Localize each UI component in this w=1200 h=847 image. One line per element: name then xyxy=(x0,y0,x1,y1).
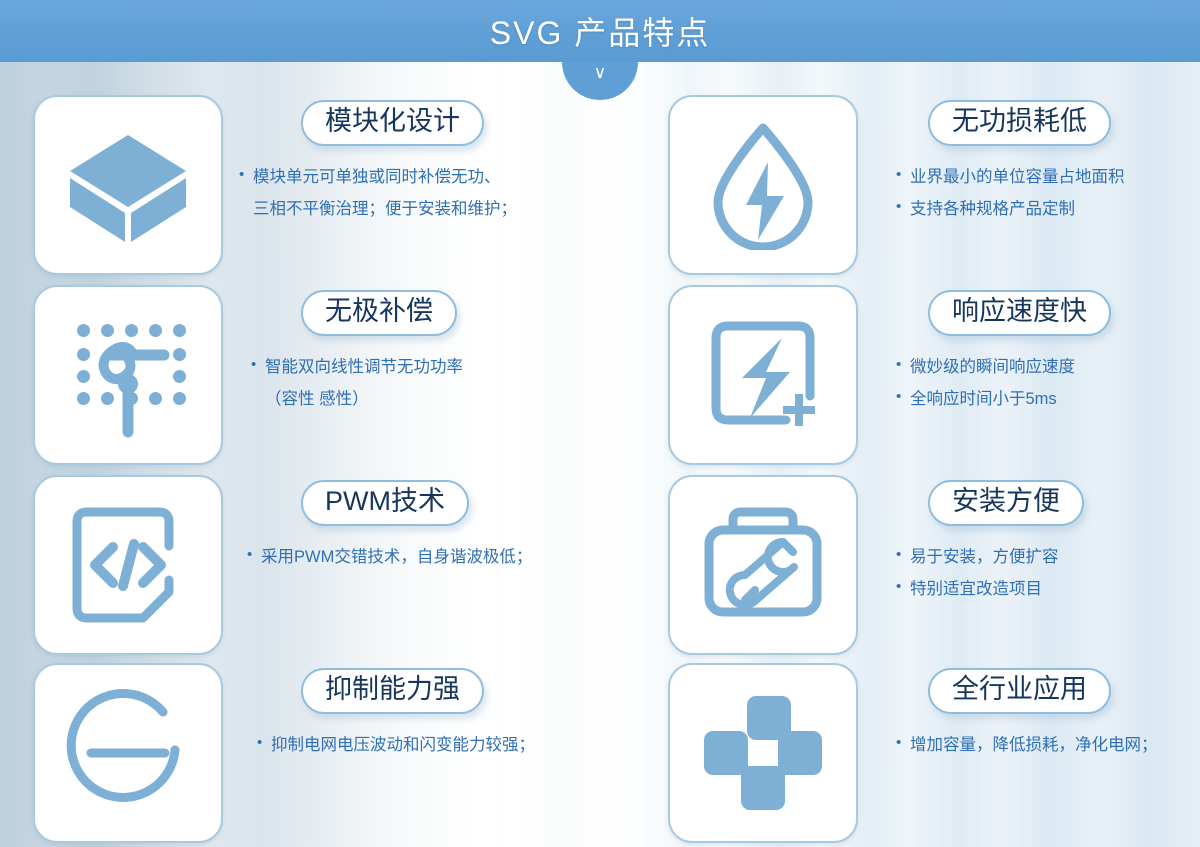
feature-bullets: 模块单元可单独或同时补偿无功、 三相不平衡治理；便于安装和维护； xyxy=(239,162,600,225)
bullet-item: 增加容量，降低损耗，净化电网； xyxy=(896,730,1200,762)
toolbox-wrench-icon xyxy=(697,502,829,628)
feature-title: 无极补偿 xyxy=(301,290,457,336)
feature-text: 全行业应用 增加容量，降低损耗，净化电网； xyxy=(858,658,1200,762)
circle-minus-icon xyxy=(63,688,193,818)
feature-bullets: 智能双向线性调节无功功率 （容性 感性） xyxy=(251,352,600,415)
feature-text: 响应速度快 微妙级的瞬间响应速度 全响应时间小于5ms xyxy=(858,280,1200,415)
feature-icon-card xyxy=(33,285,223,465)
feature-icon-card xyxy=(668,95,858,275)
bullet-item: 微妙级的瞬间响应速度 xyxy=(896,352,1200,384)
feature-item: PWM技术 采用PWM交错技术，自身谐波极低； xyxy=(0,470,600,660)
feature-bullets: 抑制电网电压波动和闪变能力较强； xyxy=(257,730,600,762)
feature-text: 无极补偿 智能双向线性调节无功功率 （容性 感性） xyxy=(223,280,600,415)
bullet-item: 特别适宜改造项目 xyxy=(896,574,1200,606)
feature-item: 无极补偿 智能双向线性调节无功功率 （容性 感性） xyxy=(0,280,600,470)
bullet-item: 抑制电网电压波动和闪变能力较强； xyxy=(257,730,600,762)
infographic-page: SVG 产品特点 ∨ 模块化设计 xyxy=(0,0,1200,847)
feature-item: 安装方便 易于安装，方便扩容 特别适宜改造项目 xyxy=(600,470,1200,660)
feature-title: 无功损耗低 xyxy=(928,100,1111,146)
bullet-item: 易于安装，方便扩容 xyxy=(896,542,1200,574)
feature-bullets: 增加容量，降低损耗，净化电网； xyxy=(896,730,1200,762)
feature-icon-card xyxy=(33,663,223,843)
bullet-item: 支持各种规格产品定制 xyxy=(896,194,1200,226)
feature-bullets: 微妙级的瞬间响应速度 全响应时间小于5ms xyxy=(896,352,1200,415)
bullet-item: 三相不平衡治理；便于安装和维护； xyxy=(239,194,600,226)
feature-item: 无功损耗低 业界最小的单位容量占地面积 支持各种规格产品定制 xyxy=(600,90,1200,280)
feature-item: 抑制能力强 抑制电网电压波动和闪变能力较强； xyxy=(0,658,600,847)
feature-bullets: 采用PWM交错技术，自身谐波极低； xyxy=(247,542,600,574)
feature-item: 全行业应用 增加容量，降低损耗，净化电网； xyxy=(600,658,1200,847)
bullet-item: （容性 感性） xyxy=(251,384,600,416)
feature-bullets: 业界最小的单位容量占地面积 支持各种规格产品定制 xyxy=(896,162,1200,225)
feature-icon-card xyxy=(668,663,858,843)
bullet-item: 模块单元可单独或同时补偿无功、 xyxy=(239,162,600,194)
bolt-square-plus-icon xyxy=(698,310,828,440)
feature-text: 抑制能力强 抑制电网电压波动和闪变能力较强； xyxy=(223,658,600,762)
features-grid: 模块化设计 模块单元可单独或同时补偿无功、 三相不平衡治理；便于安装和维护； xyxy=(0,62,1200,847)
page-title: SVG 产品特点 xyxy=(0,0,1200,62)
feature-title: 模块化设计 xyxy=(301,100,484,146)
features-column-left: 模块化设计 模块单元可单独或同时补偿无功、 三相不平衡治理；便于安装和维护； xyxy=(0,62,600,847)
feature-text: PWM技术 采用PWM交错技术，自身谐波极低； xyxy=(223,470,600,574)
feature-icon-card xyxy=(33,95,223,275)
feature-bullets: 易于安装，方便扩容 特别适宜改造项目 xyxy=(896,542,1200,605)
feature-icon-card xyxy=(668,285,858,465)
feature-icon-card xyxy=(33,475,223,655)
code-file-icon xyxy=(65,502,191,628)
feature-title: 响应速度快 xyxy=(928,290,1111,336)
feature-text: 安装方便 易于安装，方便扩容 特别适宜改造项目 xyxy=(858,470,1200,605)
node-anchor-icon xyxy=(63,310,193,440)
bullet-item: 全响应时间小于5ms xyxy=(896,384,1200,416)
feature-icon-card xyxy=(668,475,858,655)
feature-title: 全行业应用 xyxy=(928,668,1111,714)
four-squares-icon xyxy=(700,690,826,816)
features-column-right: 无功损耗低 业界最小的单位容量占地面积 支持各种规格产品定制 xyxy=(600,62,1200,847)
feature-title: 抑制能力强 xyxy=(301,668,484,714)
feature-title: 安装方便 xyxy=(928,480,1084,526)
droplet-bolt-icon xyxy=(698,120,828,250)
chevron-down-icon: ∨ xyxy=(594,65,606,82)
header-band: SVG 产品特点 xyxy=(0,0,1200,62)
feature-item: 模块化设计 模块单元可单独或同时补偿无功、 三相不平衡治理；便于安装和维护； xyxy=(0,90,600,280)
bullet-item: 智能双向线性调节无功功率 xyxy=(251,352,600,384)
feature-text: 无功损耗低 业界最小的单位容量占地面积 支持各种规格产品定制 xyxy=(858,90,1200,225)
feature-item: 响应速度快 微妙级的瞬间响应速度 全响应时间小于5ms xyxy=(600,280,1200,470)
bullet-item: 业界最小的单位容量占地面积 xyxy=(896,162,1200,194)
bullet-item: 采用PWM交错技术，自身谐波极低； xyxy=(247,542,600,574)
feature-text: 模块化设计 模块单元可单独或同时补偿无功、 三相不平衡治理；便于安装和维护； xyxy=(223,90,600,225)
cube-3d-icon xyxy=(64,121,192,249)
feature-title: PWM技术 xyxy=(301,480,469,526)
